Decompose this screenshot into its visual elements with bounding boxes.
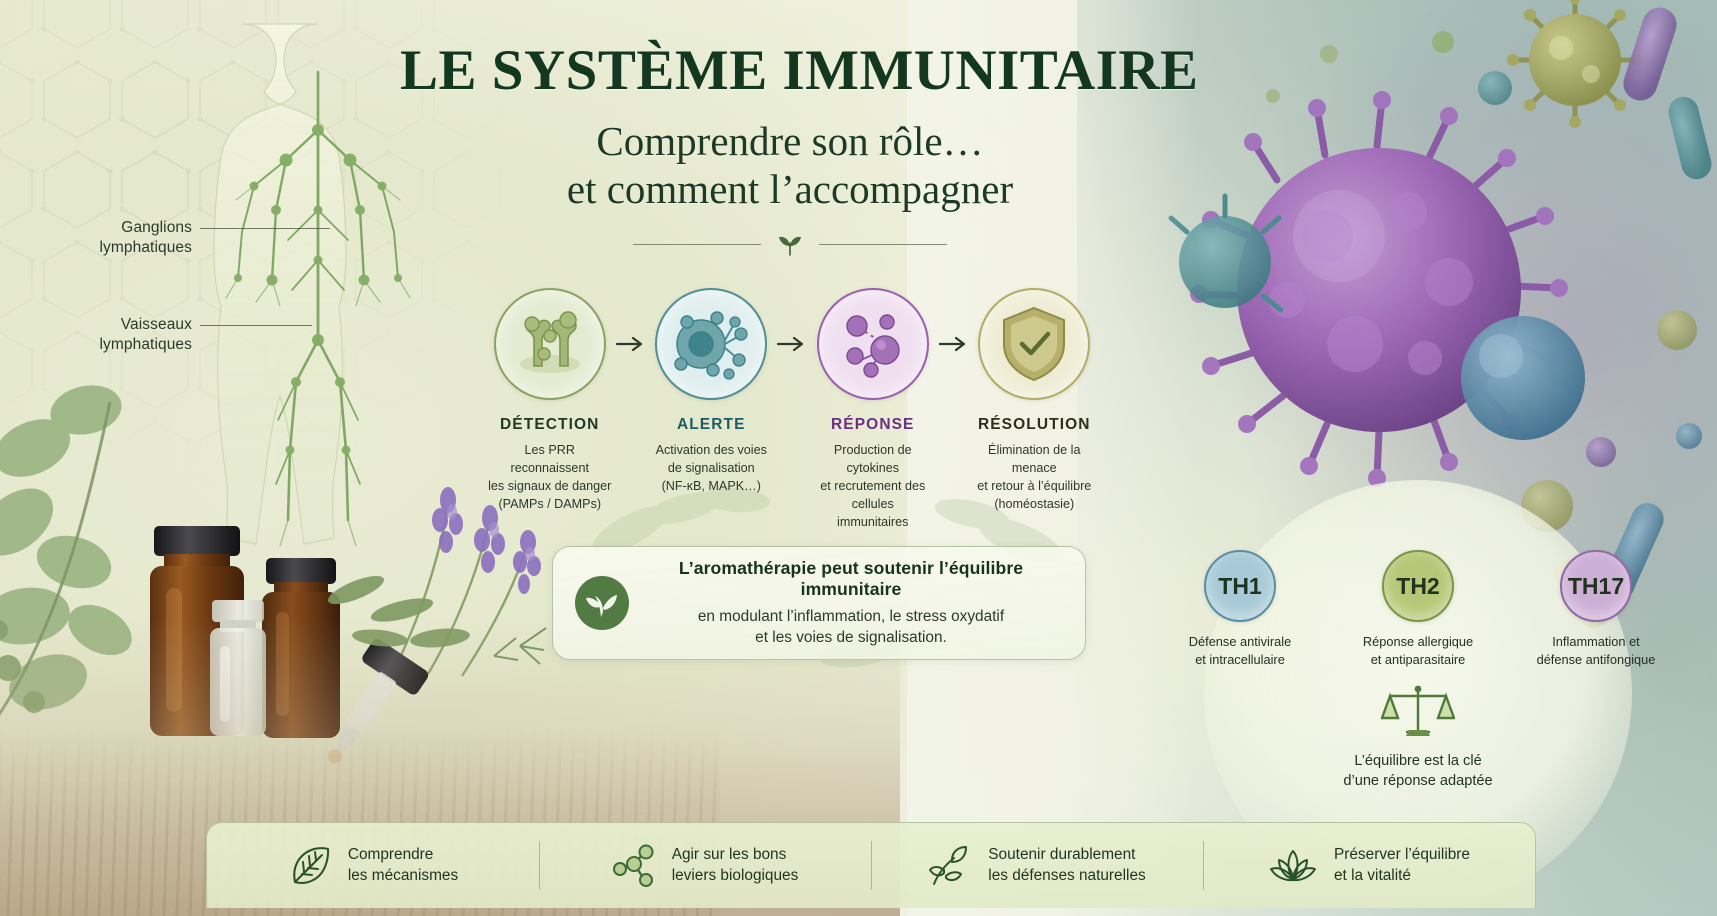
detection-desc-line1: Les PRR reconnaissent [486, 442, 614, 478]
cytokines-icon [831, 302, 915, 386]
detection-desc-line3: (PAMPs / DAMPs) [486, 496, 614, 514]
detection-desc-line2: les signaux de danger [486, 478, 614, 496]
detection-title: DÉTECTION [486, 416, 614, 434]
leaf-icon [288, 844, 332, 888]
flow-step-detection: DÉTECTION Les PRR reconnaissent les sign… [486, 288, 614, 514]
subtitle-line-1: Comprendre son rôle… [400, 117, 1180, 165]
resolution-description: Élimination de la menace et retour à l’é… [971, 442, 1099, 514]
th1-caption-line2: et intracellulaire [1173, 651, 1307, 669]
resolution-desc-line2: et retour à l’équilibre [971, 478, 1099, 496]
pillar-defenses-text: Soutenir durablement les défenses nature… [988, 845, 1145, 886]
pillar-vitalite-line1: Préserver l’équilibre [1334, 845, 1470, 866]
flow-arrow-3 [937, 288, 971, 352]
balance-scale-icon [1381, 682, 1455, 740]
flow-step-alerte: ALERTE Activation des voies de signalisa… [648, 288, 776, 496]
th-pathways-row: TH1 Défense antivirale et intracellulair… [1158, 550, 1678, 668]
pillar-defenses[interactable]: Soutenir durablement les défenses nature… [871, 823, 1203, 908]
reponse-bubble [817, 288, 929, 400]
resolution-desc-line3: (homéostasie) [971, 496, 1099, 514]
detection-bubble [494, 288, 606, 400]
page-title: LE SYSTÈME IMMUNITAIRE [400, 38, 1180, 103]
resolution-desc-line1: Élimination de la menace [971, 442, 1099, 478]
th2-caption-line2: et antiparasitaire [1351, 651, 1485, 669]
lotus-icon [1268, 845, 1318, 887]
label-ganglions-line1: Ganglions [121, 219, 192, 236]
leader-line-vaisseaux [200, 325, 312, 326]
title-block: LE SYSTÈME IMMUNITAIRE Comprendre son rô… [400, 38, 1180, 256]
pillar-comprendre-text: Comprendre les mécanismes [348, 845, 458, 886]
divider-rule-left [633, 244, 761, 245]
th17-caption-line1: Inflammation et [1529, 633, 1663, 651]
th-pathway-th2: TH2 Réponse allergique et antiparasitair… [1351, 550, 1485, 668]
pillar-comprendre-line2: les mécanismes [348, 866, 458, 887]
pillar-vitalite-line2: et la vitalité [1334, 866, 1470, 887]
aromatherapy-sub-line1: en modulant l’inflammation, le stress ox… [635, 607, 1067, 628]
reponse-desc-line3: immunitaires [809, 514, 937, 532]
pillar-leviers[interactable]: Agir sur les bons leviers biologiques [539, 823, 871, 908]
th-pathway-th17: TH17 Inflammation et défense antifongiqu… [1529, 550, 1663, 668]
signaling-cell-icon [667, 302, 755, 386]
alerte-title: ALERTE [648, 416, 776, 434]
th1-circle: TH1 [1204, 550, 1276, 622]
aromatherapy-subtext: en modulant l’inflammation, le stress ox… [635, 607, 1067, 649]
th1-caption-line1: Défense antivirale [1173, 633, 1307, 651]
arrow-right-icon [939, 336, 969, 352]
detection-description: Les PRR reconnaissent les signaux de dan… [486, 442, 614, 514]
alerte-desc-line1: Activation des voies [648, 442, 776, 460]
resolution-title: RÉSOLUTION [971, 416, 1099, 434]
th17-circle: TH17 [1560, 550, 1632, 622]
divider-rule-right [819, 244, 947, 245]
th-balance-footer: L’équilibre est la clé d’une réponse ada… [1158, 682, 1678, 792]
aromatherapy-sub-line2: et les voies de signalisation. [635, 628, 1067, 649]
shield-check-icon [998, 304, 1070, 384]
aromatherapy-badge [575, 576, 629, 630]
pillar-vitalite-text: Préserver l’équilibre et la vitalité [1334, 845, 1470, 886]
sprig-icon [775, 234, 805, 256]
pillar-leviers-line1: Agir sur les bons [672, 845, 799, 866]
arrow-right-icon [777, 336, 807, 352]
resolution-bubble [978, 288, 1090, 400]
alerte-description: Activation des voies de signalisation (N… [648, 442, 776, 496]
alerte-desc-line2: de signalisation [648, 460, 776, 478]
aromatherapy-callout: L’aromathérapie peut soutenir l’équilibr… [552, 546, 1086, 660]
reponse-desc-line1: Production de cytokines [809, 442, 937, 478]
label-vaisseaux-line2: lymphatiques [99, 336, 192, 353]
label-ganglions-lymphatiques: Ganglions lymphatiques [62, 218, 192, 259]
pillar-defenses-line1: Soutenir durablement [988, 845, 1145, 866]
th17-caption-line2: défense antifongique [1529, 651, 1663, 669]
immune-process-flow: DÉTECTION Les PRR reconnaissent les sign… [486, 288, 1098, 531]
label-ganglions-line2: lymphatiques [99, 239, 192, 256]
receptor-cells-icon [508, 302, 592, 386]
infographic-poster: Ganglions lymphatiques Vaisseaux lymphat… [0, 0, 1717, 916]
pillar-leviers-line2: leviers biologiques [672, 866, 799, 887]
leader-line-ganglions [200, 228, 330, 229]
flow-arrow-2 [775, 288, 809, 352]
th2-caption: Réponse allergique et antiparasitaire [1351, 633, 1485, 668]
aromatherapy-headline: L’aromathérapie peut soutenir l’équilibr… [635, 558, 1067, 600]
molecule-icon [612, 844, 656, 888]
subtitle-line-2: et comment l’accompagner [400, 165, 1180, 213]
th2-caption-line1: Réponse allergique [1351, 633, 1485, 651]
th2-circle: TH2 [1382, 550, 1454, 622]
reponse-desc-line2: et recrutement des cellules [809, 478, 937, 514]
reponse-title: RÉPONSE [809, 416, 937, 434]
flow-step-reponse: RÉPONSE Production de cytokines et recru… [809, 288, 937, 531]
pillars-bar: Comprendre les mécanismes Agir sur les b… [206, 822, 1536, 908]
alerte-bubble [655, 288, 767, 400]
sprig-leaves-icon [928, 844, 972, 888]
arrow-right-icon [616, 336, 646, 352]
leaf-sprout-icon [585, 586, 619, 620]
label-vaisseaux-line1: Vaisseaux [121, 316, 192, 333]
aromatherapy-text: L’aromathérapie peut soutenir l’équilibr… [629, 558, 1085, 649]
th17-caption: Inflammation et défense antifongique [1529, 633, 1663, 668]
th-balance-note: L’équilibre est la clé d’une réponse ada… [1158, 752, 1678, 792]
th-note-line1: L’équilibre est la clé [1158, 752, 1678, 772]
alerte-desc-line3: (NF-κB, MAPK…) [648, 478, 776, 496]
th-note-line2: d’une réponse adaptée [1158, 772, 1678, 792]
page-subtitle: Comprendre son rôle… et comment l’accomp… [400, 117, 1180, 214]
pillar-vitalite[interactable]: Préserver l’équilibre et la vitalité [1203, 823, 1535, 908]
reponse-description: Production de cytokines et recrutement d… [809, 442, 937, 531]
flow-step-resolution: RÉSOLUTION Élimination de la menace et r… [971, 288, 1099, 514]
pillar-leviers-text: Agir sur les bons leviers biologiques [672, 845, 799, 886]
pillar-comprendre-line1: Comprendre [348, 845, 458, 866]
th-pathway-th1: TH1 Défense antivirale et intracellulair… [1173, 550, 1307, 668]
pillar-defenses-line2: les défenses naturelles [988, 866, 1145, 887]
label-vaisseaux-lymphatiques: Vaisseaux lymphatiques [60, 315, 192, 356]
flow-arrow-1 [614, 288, 648, 352]
pillar-comprendre[interactable]: Comprendre les mécanismes [207, 823, 539, 908]
th-balance-panel: ÉQUILIBRE DES VOIES TH TH1 Défense antiv… [1158, 486, 1678, 786]
th1-caption: Défense antivirale et intracellulaire [1173, 633, 1307, 668]
title-divider [400, 234, 1180, 256]
